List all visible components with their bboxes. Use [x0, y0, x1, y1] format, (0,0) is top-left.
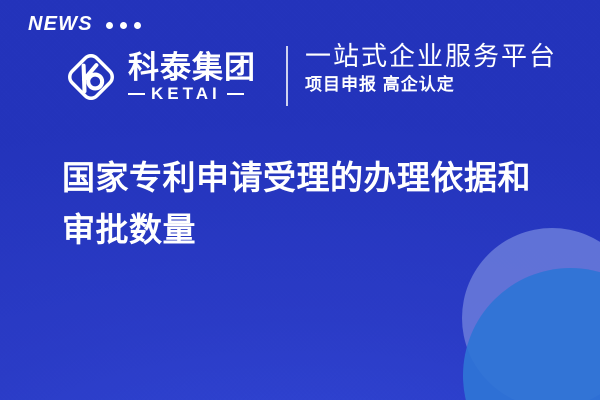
ketai-logo-icon	[62, 48, 120, 106]
news-tag: NEWS	[28, 14, 141, 34]
vertical-divider	[286, 46, 288, 106]
news-label: NEWS	[28, 14, 93, 34]
news-banner: NEWS 科泰集团 KETAI 一	[0, 0, 600, 400]
brand-name-en-row: KETAI	[128, 85, 256, 102]
brand-wordmark: 科泰集团 KETAI	[128, 52, 256, 103]
slogan-sub: 项目申报 高企认定	[305, 75, 557, 95]
news-dots-icon	[106, 20, 141, 29]
slogan-block: 一站式企业服务平台 项目申报 高企认定	[305, 42, 557, 95]
brand-block: 科泰集团 KETAI	[62, 44, 256, 110]
brand-name-cn: 科泰集团	[128, 52, 256, 85]
rule-left	[128, 93, 145, 96]
dot-icon	[134, 22, 141, 29]
dot-icon	[106, 22, 113, 29]
slogan-main: 一站式企业服务平台	[305, 42, 557, 72]
page-title: 国家专利申请受理的办理依据和审批数量	[62, 152, 562, 256]
dot-icon	[120, 22, 127, 29]
rule-right	[227, 93, 244, 96]
brand-name-en: KETAI	[151, 85, 221, 102]
